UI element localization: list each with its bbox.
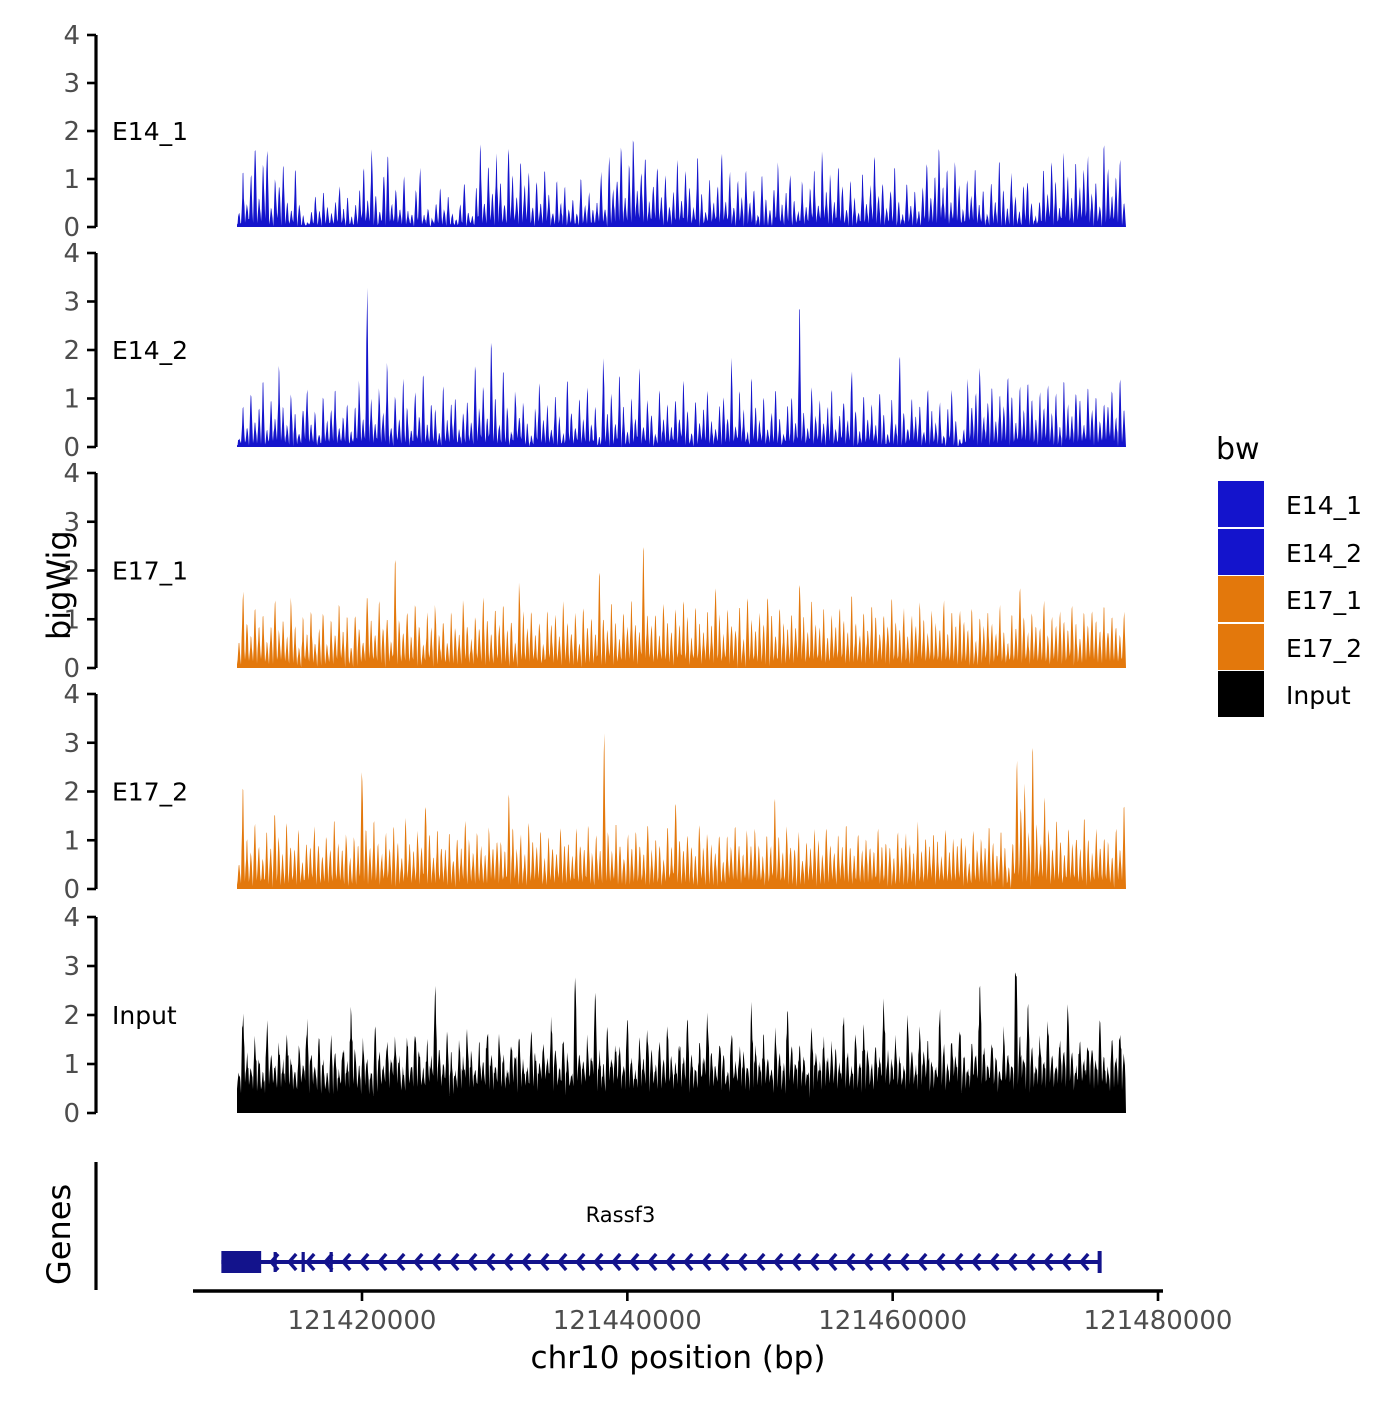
- x-axis: 121420000121440000121460000121480000: [193, 1291, 1232, 1336]
- gene-exon-block[interactable]: [221, 1251, 261, 1273]
- legend-swatch-E14_2[interactable]: [1218, 529, 1264, 575]
- y-tick-label: 0: [63, 1099, 80, 1129]
- genes-axis-title: Genes: [40, 1184, 78, 1285]
- y-tick-label: 3: [63, 288, 80, 318]
- panel-label-E17_1: E17_1: [112, 557, 188, 586]
- panel-label-E14_2: E14_2: [112, 336, 188, 365]
- y-tick-label: 3: [63, 952, 80, 982]
- track-panel-E17_2: 01234E17_2: [63, 680, 1126, 905]
- legend-swatch-E17_1[interactable]: [1218, 576, 1264, 622]
- legend-label-E14_1: E14_1: [1286, 491, 1362, 520]
- track-panel-E17_1: 01234E17_1: [63, 459, 1126, 684]
- legend-label-E17_2: E17_2: [1286, 634, 1362, 663]
- legend-swatch-Input[interactable]: [1218, 671, 1264, 717]
- y-tick-label: 1: [63, 385, 80, 415]
- y-tick-label: 3: [63, 729, 80, 759]
- y-tick-label: 1: [63, 165, 80, 195]
- x-tick-label: 121420000: [288, 1306, 437, 1336]
- y-axis-title: bigWig: [40, 530, 78, 640]
- legend-title: bw: [1216, 432, 1260, 467]
- track-panel-E14_2: 01234E14_2: [63, 239, 1126, 463]
- panel-label-E14_1: E14_1: [112, 117, 188, 146]
- y-tick-label: 2: [63, 778, 80, 808]
- y-tick-label: 4: [63, 459, 80, 489]
- genes-panel: Rassf3: [96, 1162, 1100, 1290]
- track-area-E17_1: [237, 547, 1126, 668]
- panel-label-Input: Input: [112, 1001, 177, 1030]
- legend-label-E14_2: E14_2: [1286, 539, 1362, 568]
- x-tick-label: 121460000: [818, 1306, 967, 1336]
- track-area-E14_1: [237, 140, 1126, 227]
- legend-swatch-E14_1[interactable]: [1218, 481, 1264, 527]
- legend-swatch-E17_2[interactable]: [1218, 624, 1264, 670]
- y-tick-label: 3: [63, 69, 80, 99]
- track-area-E17_2: [237, 733, 1126, 889]
- gene-name-label: Rassf3: [586, 1203, 656, 1227]
- figure-canvas: 01234E14_101234E14_201234E17_101234E17_2…: [0, 0, 1400, 1400]
- x-tick-label: 121480000: [1084, 1306, 1233, 1336]
- track-area-E14_2: [237, 288, 1126, 447]
- y-tick-label: 4: [63, 21, 80, 51]
- track-area-Input: [237, 972, 1126, 1113]
- track-panel-E14_1: 01234E14_1: [63, 21, 1126, 243]
- y-tick-label: 0: [63, 875, 80, 905]
- panel-label-E17_2: E17_2: [112, 778, 188, 807]
- legend-label-E17_1: E17_1: [1286, 586, 1362, 615]
- y-tick-label: 4: [63, 680, 80, 710]
- bigwig-track-figure: 01234E14_101234E14_201234E17_101234E17_2…: [0, 0, 1400, 1400]
- y-tick-label: 1: [63, 826, 80, 856]
- y-tick-label: 4: [63, 903, 80, 933]
- y-tick-label: 2: [63, 117, 80, 147]
- x-tick-label: 121440000: [553, 1306, 702, 1336]
- y-tick-label: 2: [63, 336, 80, 366]
- legend-label-Input: Input: [1286, 681, 1351, 710]
- y-tick-label: 4: [63, 239, 80, 269]
- y-tick-label: 1: [63, 1050, 80, 1080]
- track-panel-Input: 01234Input: [63, 903, 1126, 1129]
- x-axis-title: chr10 position (bp): [0, 1340, 1356, 1376]
- y-tick-label: 2: [63, 1001, 80, 1031]
